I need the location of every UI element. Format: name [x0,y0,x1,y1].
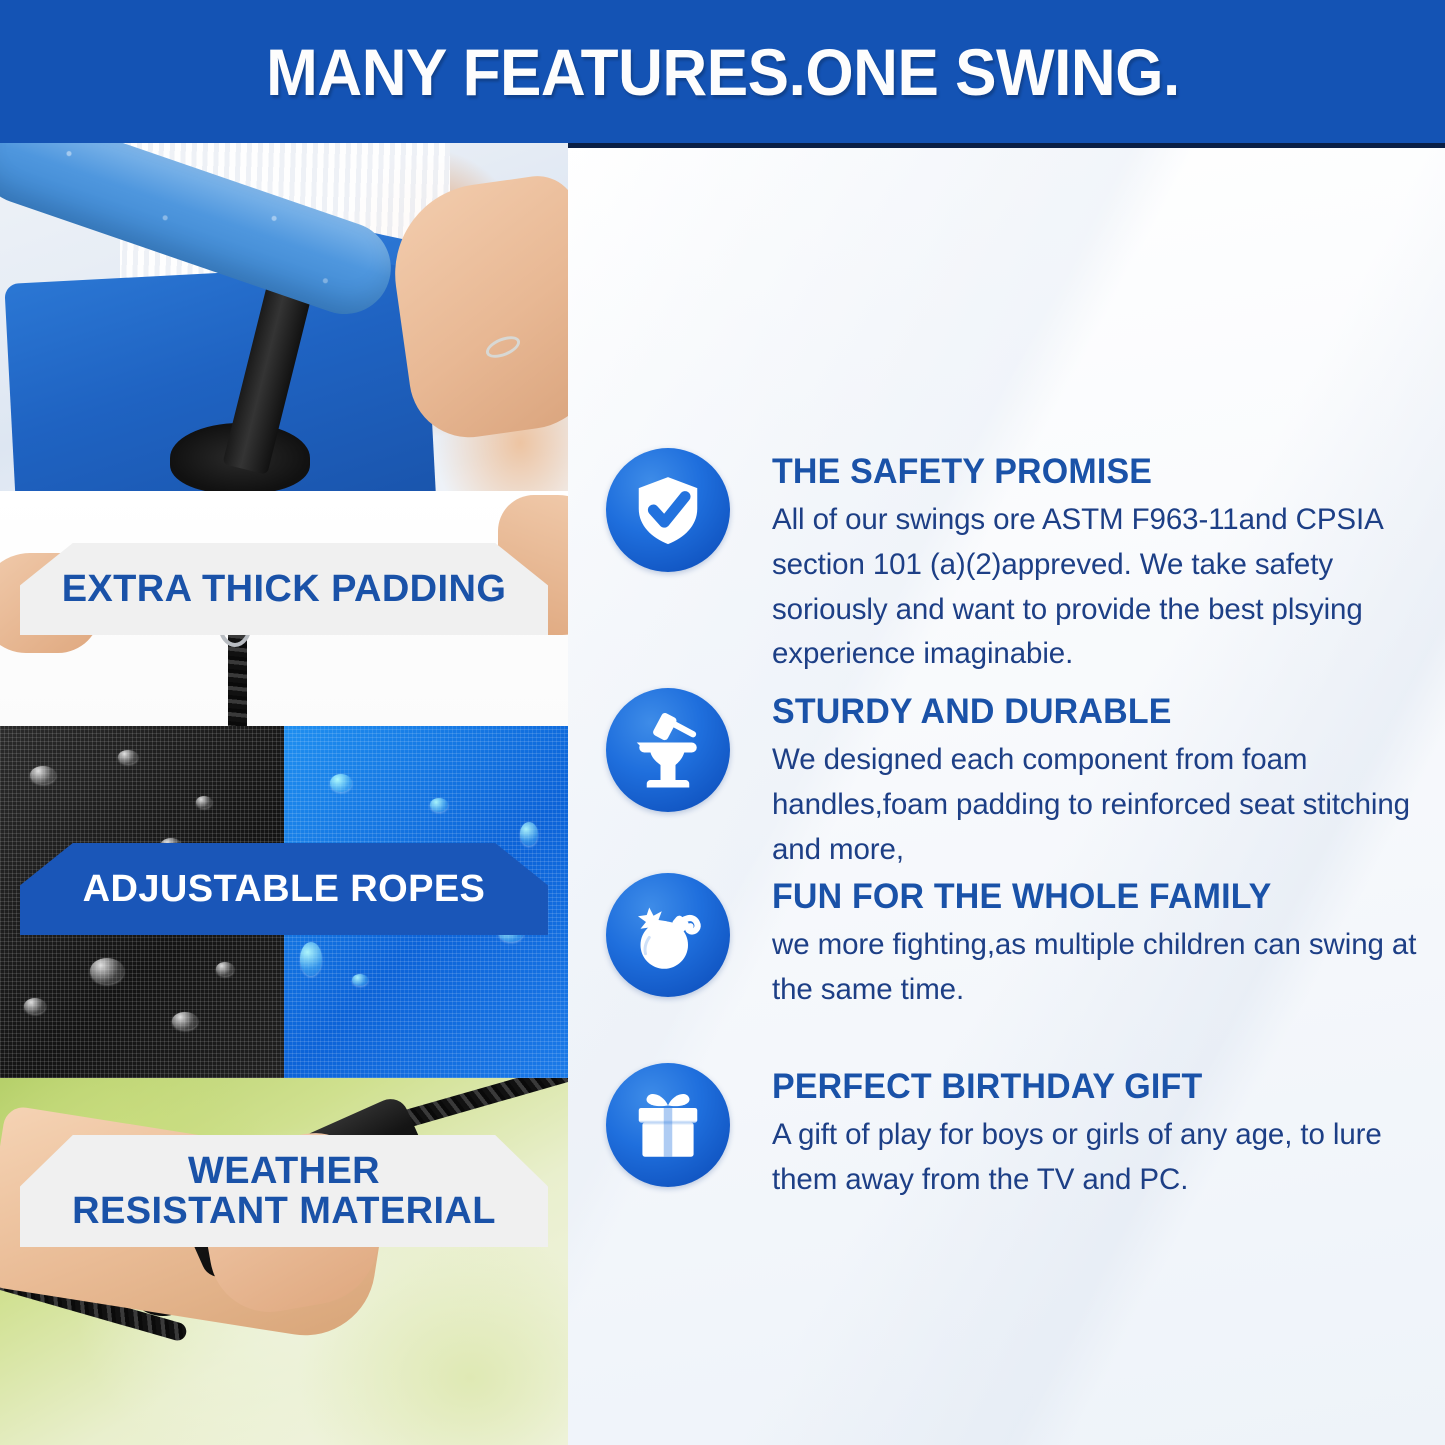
gift-box-icon [606,1063,730,1187]
features-panel: THE SAFETY PROMISE All of our swings ore… [568,148,1445,1445]
foam-padding-photo [0,143,568,491]
banner-label: ADJUSTABLE ROPES [83,869,486,909]
feature-body: All of our swings ore ASTM F963-11and CP… [772,498,1445,677]
feature-title: FUN FOR THE WHOLE FAMILY [772,877,1425,917]
feature-title: PERFECT BIRTHDAY GIFT [772,1067,1425,1107]
page-title: MANY FEATURES.ONE SWING. [266,34,1180,110]
feature-body: We designed each component from foam han… [772,738,1445,872]
shield-check-icon [606,448,730,572]
feature-title: THE SAFETY PROMISE [772,452,1425,492]
anvil-hammer-icon [606,688,730,812]
header-underline [568,143,1445,148]
feature-item-fun-whole-family: FUN FOR THE WHOLE FAMILY we more fightin… [568,873,1445,1013]
feature-text-block: FUN FOR THE WHOLE FAMILY we more fightin… [772,873,1445,1013]
banner-label: WEATHER RESISTANT MATERIAL [72,1151,496,1232]
photo-column: EXTRA THICK PADDING ADJUSTABLE ROPES WEA… [0,143,568,1445]
banner-label: EXTRA THICK PADDING [62,569,507,609]
feature-item-sturdy-durable: STURDY AND DURABLE We designed each comp… [568,688,1445,872]
header-bar: MANY FEATURES.ONE SWING. [0,0,1445,143]
bomb-icon [606,873,730,997]
feature-text-block: PERFECT BIRTHDAY GIFT A gift of play for… [772,1063,1445,1203]
feature-title: STURDY AND DURABLE [772,692,1425,732]
feature-text-block: STURDY AND DURABLE We designed each comp… [772,688,1445,872]
banner-label-line1: WEATHER [188,1150,380,1192]
feature-item-safety-promise: THE SAFETY PROMISE All of our swings ore… [568,448,1445,677]
feature-item-birthday-gift: PERFECT BIRTHDAY GIFT A gift of play for… [568,1063,1445,1203]
feature-body: A gift of play for boys or girls of any … [772,1113,1445,1203]
banner-label-line2: RESISTANT MATERIAL [72,1190,496,1232]
banner-adjustable-ropes: ADJUSTABLE ROPES [20,843,548,935]
soft-handle-photo [0,1078,568,1445]
infographic-page: MANY FEATURES.ONE SWING. [0,0,1445,1445]
feature-text-block: THE SAFETY PROMISE All of our swings ore… [772,448,1445,677]
photo-upper-rope [394,1078,568,1131]
feature-body: we more fighting,as multiple children ca… [772,923,1445,1013]
banner-weather-resistant-material: WEATHER RESISTANT MATERIAL [20,1135,548,1247]
banner-extra-thick-padding: EXTRA THICK PADDING [20,543,548,635]
